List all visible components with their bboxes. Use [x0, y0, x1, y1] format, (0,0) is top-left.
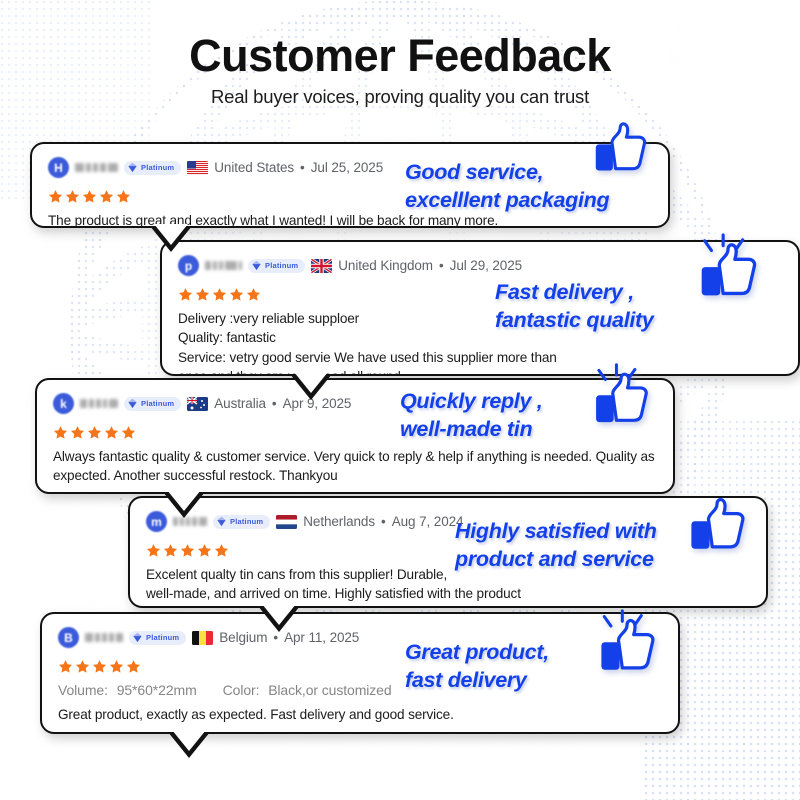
speech-bubble-tail-fill: [262, 604, 296, 625]
separator-dot: •: [381, 514, 386, 529]
star-icon: [87, 425, 102, 440]
thumbs-up-icon: [590, 608, 666, 684]
reviewer-country: United States: [214, 160, 294, 175]
spec-value: 95*60*22mm: [117, 682, 197, 698]
review-text: Delivery :very reliable supploerQuality:…: [178, 309, 782, 374]
badge-label: Platinum: [141, 399, 174, 408]
spec-item: Volume: 95*60*22mm: [58, 682, 197, 698]
thumbs-up-badge: [590, 608, 666, 689]
review-date: Jul 25, 2025: [311, 160, 383, 175]
reviewer-country: Belgium: [219, 630, 267, 645]
reviewer-country: Australia: [214, 396, 266, 411]
avatar: H: [48, 157, 69, 178]
star-icon: [70, 425, 85, 440]
star-icon: [116, 189, 131, 204]
username-redacted: [173, 517, 207, 526]
star-icon: [92, 659, 107, 674]
page-subtitle: Real buyer voices, proving quality you c…: [0, 86, 800, 108]
speech-bubble-tail-fill: [167, 490, 201, 511]
annotation-line: well-made tin: [400, 415, 542, 443]
review-date: Apr 11, 2025: [284, 630, 359, 645]
star-icon: [121, 425, 136, 440]
review-card: B Platinum Belgium • Apr 11, 2025 Volume…: [40, 612, 680, 734]
thumbs-up-badge: [585, 362, 659, 441]
review-line: well-made, and arrived on time. Highly s…: [146, 584, 750, 603]
username-redacted: [85, 633, 123, 642]
star-rating: [58, 659, 662, 674]
avatar: B: [58, 627, 79, 648]
review-text: Always fantastic quality & customer serv…: [53, 447, 657, 486]
status-badge: Platinum: [248, 259, 305, 273]
review-meta: k Platinum Australia • Apr 9, 2025: [53, 393, 657, 414]
star-icon: [104, 425, 119, 440]
reviewer-country: Netherlands: [303, 514, 375, 529]
flag-gb: [311, 259, 332, 273]
star-icon: [65, 189, 80, 204]
speech-bubble-tail-fill: [294, 372, 328, 393]
thumbs-up-badge: [690, 232, 768, 315]
product-specs: Volume: 95*60*22mm Color: Black,or custo…: [58, 682, 662, 698]
username-redacted: [80, 399, 118, 408]
speech-bubble-tail-fill: [172, 730, 206, 751]
annotation-line: excelllent packaging: [405, 186, 609, 214]
status-badge: Platinum: [129, 631, 186, 645]
flag-us: [187, 161, 208, 175]
star-icon: [214, 543, 229, 558]
star-icon: [109, 659, 124, 674]
star-icon: [229, 287, 244, 302]
annotation-line: fast delivery: [405, 666, 549, 694]
star-icon: [195, 287, 210, 302]
thumbs-up-icon: [585, 362, 659, 436]
thumbs-up-icon: [585, 112, 657, 184]
annotation-line: fantastic quality: [495, 306, 654, 334]
separator-dot: •: [439, 258, 444, 273]
star-icon: [163, 543, 178, 558]
status-badge: Platinum: [124, 397, 181, 411]
spec-key: Color:: [223, 682, 260, 698]
star-icon: [126, 659, 141, 674]
badge-label: Platinum: [146, 633, 179, 642]
username-redacted: [205, 261, 242, 270]
avatar: k: [53, 393, 74, 414]
highlight-annotation: Quickly reply ,well-made tin: [400, 387, 542, 444]
separator-dot: •: [273, 630, 278, 645]
star-icon: [180, 543, 195, 558]
star-icon: [146, 543, 161, 558]
star-icon: [99, 189, 114, 204]
star-icon: [246, 287, 261, 302]
review-line: Great product, exactly as expected. Fast…: [58, 705, 662, 724]
highlight-annotation: Great product,fast delivery: [405, 638, 549, 695]
separator-dot: •: [272, 396, 277, 411]
flag-nl: [276, 515, 297, 529]
spec-value: Black,or customized: [268, 682, 391, 698]
highlight-annotation: Fast delivery ,fantastic quality: [495, 278, 654, 335]
review-card: m Platinum Netherlands • Aug 7, 2024 Exc…: [128, 496, 768, 608]
review-text: Great product, exactly as expected. Fast…: [58, 705, 662, 724]
page-header: Customer Feedback Real buyer voices, pro…: [0, 32, 800, 108]
annotation-line: Fast delivery ,: [495, 278, 654, 306]
review-card: k Platinum Australia • Apr 9, 2025 Alway…: [35, 378, 675, 494]
review-line: Always fantastic quality & customer serv…: [53, 447, 657, 466]
spec-key: Volume:: [58, 682, 108, 698]
annotation-line: Quickly reply ,: [400, 387, 542, 415]
page-title: Customer Feedback: [0, 32, 800, 79]
diamond-badge-icon: [132, 632, 143, 643]
badge-label: Platinum: [265, 261, 298, 270]
review-meta: m Platinum Netherlands • Aug 7, 2024: [146, 511, 750, 532]
reviewer-country: United Kingdom: [338, 258, 433, 273]
diamond-badge-icon: [127, 162, 138, 173]
flag-be: [192, 631, 213, 645]
review-date: Aug 7, 2024: [392, 514, 464, 529]
flag-au: [187, 397, 208, 411]
annotation-line: Highly satisfied with: [455, 517, 657, 545]
review-line: expected. Another successful restock. Th…: [53, 466, 657, 485]
star-rating: [146, 543, 750, 558]
review-text: Excelent qualty tin cans from this suppl…: [146, 565, 750, 606]
star-icon: [75, 659, 90, 674]
star-icon: [53, 425, 68, 440]
status-badge: Platinum: [213, 515, 270, 529]
annotation-line: product and service: [455, 545, 657, 573]
highlight-annotation: Good service,excelllent packaging: [405, 158, 609, 215]
review-line: Quality: fantastic: [178, 328, 782, 347]
highlight-annotation: Highly satisfied withproduct and service: [455, 517, 657, 574]
review-line: once and they are very good all round: [178, 367, 782, 374]
star-icon: [82, 189, 97, 204]
thumbs-up-badge: [585, 112, 657, 189]
review-line: and service, Wil definitely order again!: [146, 604, 750, 606]
spec-item: Color: Black,or customized: [223, 682, 392, 698]
thumbs-up-icon: [690, 232, 768, 310]
username-redacted: [75, 163, 118, 172]
speech-bubble-tail-fill: [154, 224, 188, 245]
review-date: Jul 29, 2025: [450, 258, 522, 273]
star-icon: [48, 189, 63, 204]
thumbs-up-icon: [680, 487, 756, 563]
avatar: p: [178, 255, 199, 276]
review-meta: B Platinum Belgium • Apr 11, 2025: [58, 627, 662, 648]
badge-label: Platinum: [141, 163, 174, 172]
badge-label: Platinum: [230, 517, 263, 526]
diamond-badge-icon: [127, 398, 138, 409]
annotation-line: Great product,: [405, 638, 549, 666]
star-rating: [53, 425, 657, 440]
separator-dot: •: [300, 160, 305, 175]
star-icon: [212, 287, 227, 302]
review-line: Excelent qualty tin cans from this suppl…: [146, 565, 750, 584]
review-line: Service: vetry good servie We have used …: [178, 348, 782, 367]
status-badge: Platinum: [124, 161, 181, 175]
star-icon: [197, 543, 212, 558]
annotation-line: Good service,: [405, 158, 609, 186]
star-icon: [58, 659, 73, 674]
diamond-badge-icon: [216, 516, 227, 527]
star-icon: [178, 287, 193, 302]
thumbs-up-badge: [680, 487, 756, 568]
diamond-badge-icon: [251, 260, 262, 271]
